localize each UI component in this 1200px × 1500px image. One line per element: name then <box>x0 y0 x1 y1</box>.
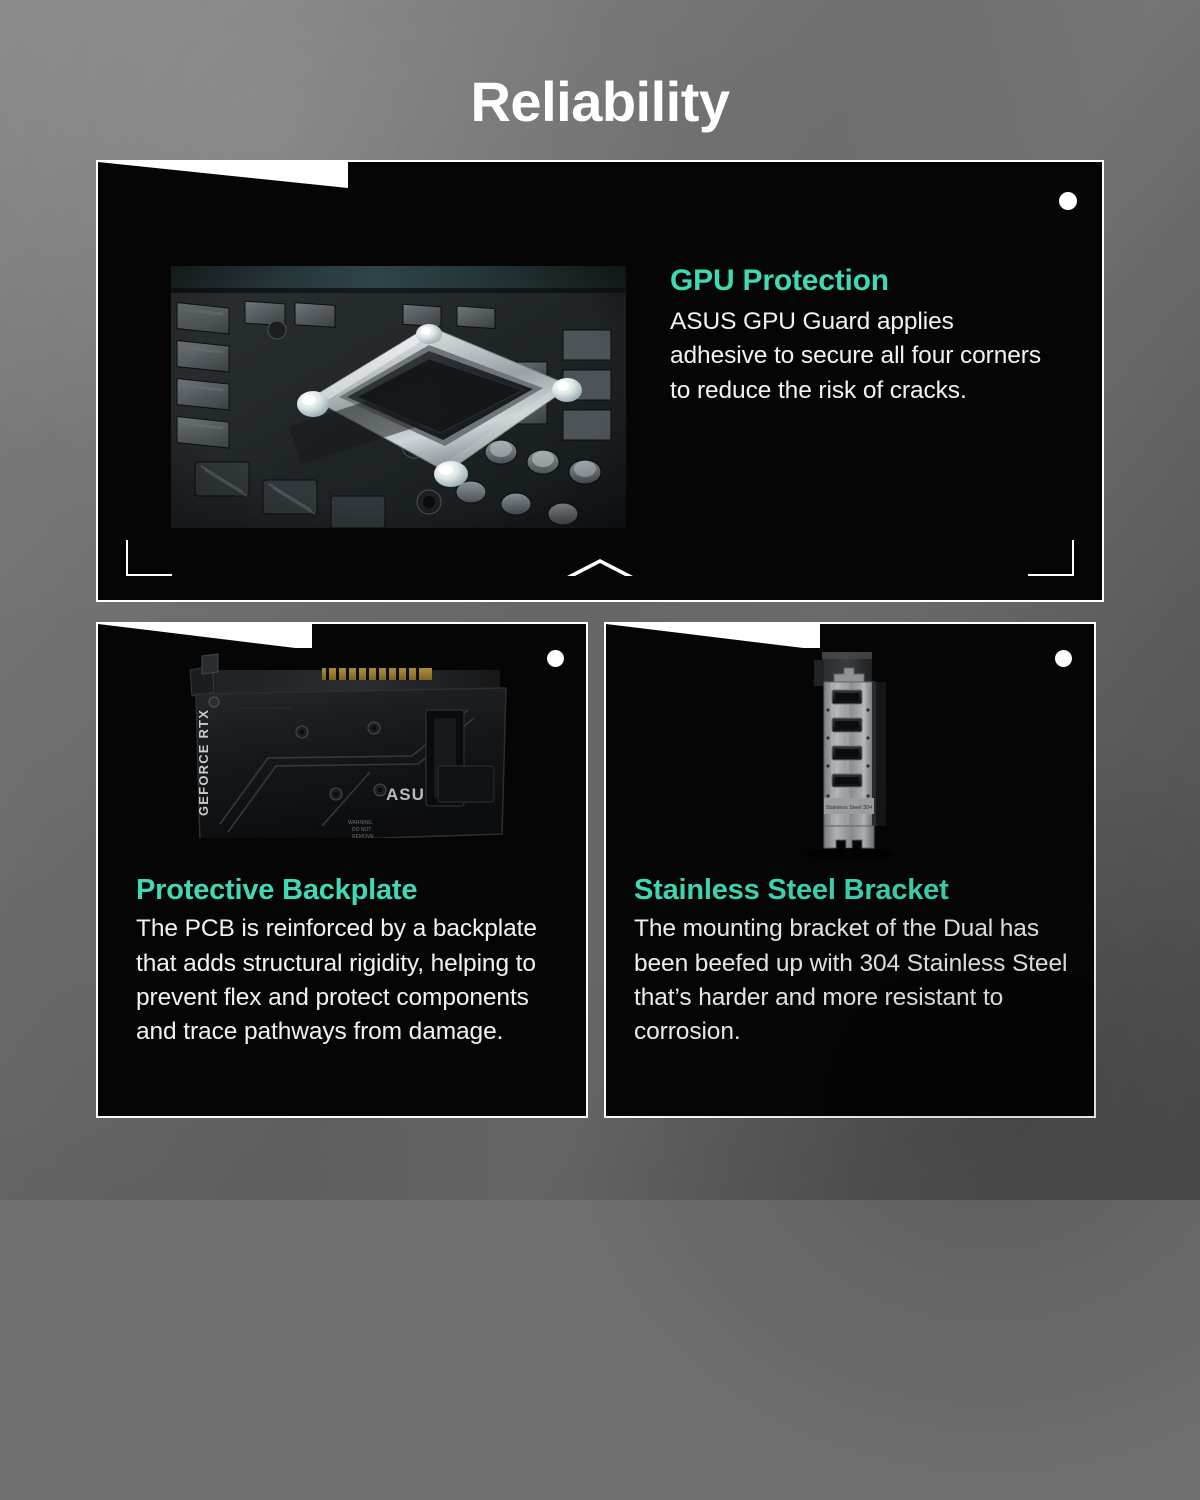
card-text-block: GPU Protection ASUS GPU Guard applies ad… <box>670 264 1042 409</box>
card-protective-backplate: GEFORCE RTX ASUS WARNING DO NOT REMOVE <box>96 622 588 1118</box>
svg-text:WARNING: WARNING <box>348 820 372 826</box>
status-dot <box>1059 192 1077 210</box>
feature-title: Stainless Steel Bracket <box>634 874 1074 907</box>
io-bracket-photo: Stainless Steel 304 <box>736 648 966 868</box>
feature-body: The PCB is reinforced by a backplate tha… <box>136 912 570 1049</box>
card-gpu-protection: GPU Protection ASUS GPU Guard applies ad… <box>96 160 1104 602</box>
corner-notch-decoration <box>606 624 820 650</box>
io-bracket-illustration: Stainless Steel 304 <box>736 648 966 868</box>
feature-body: ASUS GPU Guard applies adhesive to secur… <box>670 305 1042 409</box>
reliability-infographic-page: Reliability <box>0 0 1200 1200</box>
corner-notch-decoration <box>98 624 312 650</box>
feature-title: GPU Protection <box>670 264 1042 299</box>
backplate-illustration: GEFORCE RTX ASUS WARNING DO NOT REMOVE <box>172 648 530 868</box>
gpu-die-closeup-photo <box>171 266 626 528</box>
chevron-up-icon <box>567 559 633 576</box>
card-stainless-steel-bracket: Stainless Steel 304 Stainless Steel Brac… <box>604 622 1096 1118</box>
status-dot <box>547 650 564 667</box>
gpu-die-illustration <box>171 266 626 528</box>
status-dot <box>1055 650 1072 667</box>
svg-text:Stainless Steel 304: Stainless Steel 304 <box>826 805 872 811</box>
corner-notch-decoration <box>98 162 348 188</box>
svg-text:DO NOT: DO NOT <box>352 827 371 833</box>
card-text-block: Stainless Steel Bracket The mounting bra… <box>634 874 1074 1050</box>
corner-bracket-left-decoration <box>126 540 172 576</box>
corner-bracket-right-decoration <box>1028 540 1074 576</box>
svg-text:GEFORCE RTX: GEFORCE RTX <box>196 709 211 816</box>
page-title: Reliability <box>0 74 1200 130</box>
card-text-block: Protective Backplate The PCB is reinforc… <box>136 874 570 1050</box>
feature-body: The mounting bracket of the Dual has bee… <box>634 912 1074 1049</box>
graphics-card-backplate-photo: GEFORCE RTX ASUS WARNING DO NOT REMOVE <box>172 648 530 868</box>
feature-title: Protective Backplate <box>136 874 570 907</box>
